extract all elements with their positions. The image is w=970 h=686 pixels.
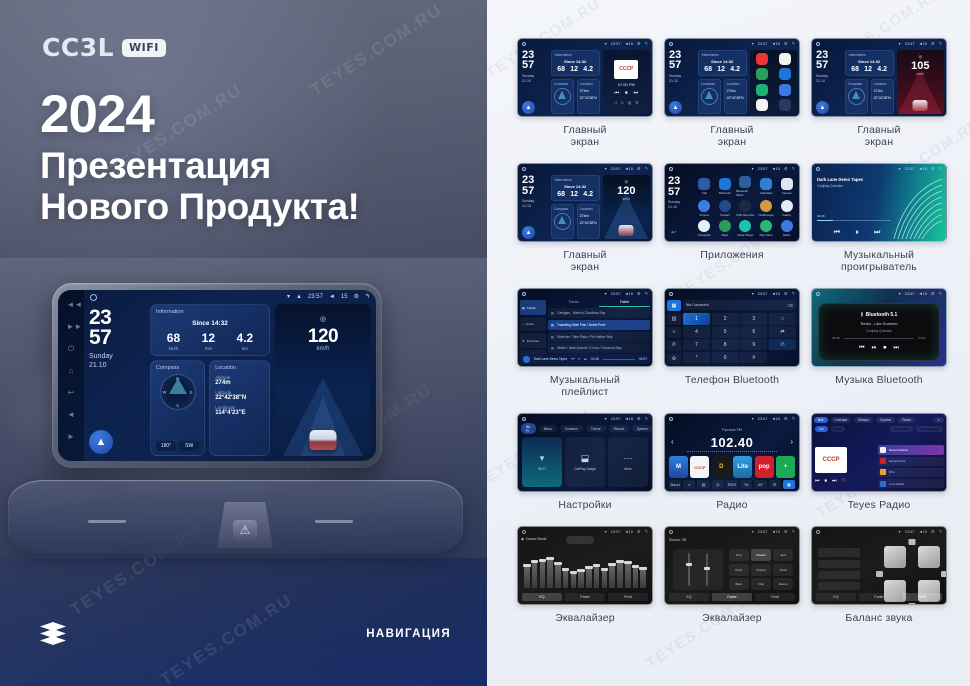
teyes-station-list[interactable]: Record Dance Europa Plus Dfm Love Radio: [878, 445, 944, 488]
eq-knob[interactable]: [585, 566, 593, 569]
station-preset[interactable]: +: [776, 456, 795, 478]
settings-tabs[interactable]: Wi-Fi Menu Common Theme Record System: [521, 424, 649, 433]
list-item[interactable]: Love Radio: [878, 479, 944, 489]
band-icon[interactable]: Band: [669, 480, 681, 489]
presets-icon[interactable]: ▦: [783, 480, 795, 489]
tab-field[interactable]: Field: [902, 593, 942, 601]
key-7[interactable]: 7: [683, 339, 710, 350]
power-icon[interactable]: ⏻: [67, 344, 76, 353]
teyes-tabs[interactable]: Все Станции Жанры Страны Поиск ✕: [814, 415, 944, 424]
eq-knob[interactable]: [562, 568, 570, 571]
next-icon[interactable]: ⏭: [584, 357, 587, 361]
track-icon: ▤: [551, 323, 554, 327]
call-icon[interactable]: ✆: [769, 339, 796, 350]
app-item[interactable]: DVR Recorder: [736, 199, 755, 218]
key-5[interactable]: 5: [712, 326, 739, 337]
eq-knob[interactable]: [624, 561, 632, 564]
tab-all[interactable]: Все: [814, 417, 828, 423]
playlist-player-bar[interactable]: Dark Lane Demo Tapes ⏮⏸⏭ 01:08 04:07: [520, 354, 650, 364]
speed-widget[interactable]: ◎ 105 km/h: [897, 50, 944, 114]
eq-knob[interactable]: [616, 560, 624, 563]
kinopoisk-icon[interactable]: [698, 220, 710, 232]
speaker-front-right[interactable]: [918, 546, 940, 568]
shuffle-icon[interactable]: ⤮: [614, 101, 617, 105]
tab-countries[interactable]: Страны: [876, 417, 895, 423]
speed-widget[interactable]: ◎ 120 km/h: [275, 304, 371, 456]
grid-cell[interactable]: ▾23:57 ◄15⚙↰ 23 57 Sunday 21.10 ▲: [517, 38, 653, 158]
prev-icon[interactable]: ⏮: [571, 357, 574, 361]
music-player-icon[interactable]: [739, 220, 751, 232]
speed-unit: km/h: [897, 72, 944, 76]
grid-cell[interactable]: ▾23:57 ◄15⚙↰ Русское FM 102.40 ‹ › M CCC…: [664, 413, 800, 521]
eq-band[interactable]: [532, 560, 538, 588]
effect-custom[interactable]: Custom: [751, 564, 771, 576]
navigation-arrow-icon[interactable]: ▲: [522, 226, 535, 239]
tab-eq[interactable]: EQ: [816, 593, 856, 601]
eq-knob[interactable]: [593, 564, 601, 567]
list-item[interactable]: Europa Plus: [878, 457, 944, 467]
eq-band[interactable]: [625, 561, 631, 588]
call-icon[interactable]: [698, 178, 710, 190]
eq-knob[interactable]: [523, 564, 531, 567]
time-text: 23:57: [758, 41, 768, 46]
tab-fader[interactable]: Fader: [712, 593, 752, 601]
prev-station-icon[interactable]: ‹: [671, 437, 674, 446]
stop-icon[interactable]: ⏹: [625, 90, 628, 96]
next-icon[interactable]: ⏭: [634, 90, 639, 96]
tab-tracks[interactable]: Tracks: [548, 300, 599, 307]
app-item[interactable]: Gallery: [777, 199, 796, 218]
next-icon[interactable]: ⏭: [832, 478, 837, 484]
effect-classic[interactable]: Classic: [751, 549, 771, 561]
back-icon[interactable]: ↰: [365, 293, 370, 300]
thumbnail-settings[interactable]: ▾23:57 ◄15⚙↰ Wi-Fi Menu Common Theme Rec…: [517, 413, 653, 492]
tab-stations[interactable]: Станции: [831, 417, 852, 423]
next-station-icon[interactable]: ›: [790, 437, 793, 446]
media-controls[interactable]: ⏮⏸⏭: [826, 229, 888, 237]
grid-cell[interactable]: ▾23:57 ◄15⚙↰: [811, 526, 947, 634]
eq-band[interactable]: [640, 567, 646, 589]
card-wifi[interactable]: ▾Wi-Fi: [522, 437, 562, 487]
grid-cell[interactable]: Все Станции Жанры Страны Поиск ✕ Топ Тре…: [811, 413, 947, 521]
compass-card[interactable]: Compass: [551, 204, 574, 239]
slider-knob[interactable]: [704, 567, 710, 570]
play-store-icon[interactable]: [756, 99, 768, 111]
teyes-now-playing: CCCP ⏮⏹⏭♡: [815, 447, 857, 484]
clock-hours: 23: [522, 175, 548, 185]
navigation-arrow-icon[interactable]: ▲: [522, 101, 535, 114]
compass-card[interactable]: Compass: [551, 79, 574, 114]
star-icon[interactable]: ☆: [769, 313, 796, 324]
browser-icon[interactable]: [779, 53, 791, 65]
eq-band[interactable]: [617, 560, 623, 589]
station-preset[interactable]: pop: [755, 456, 774, 478]
chrome-icon[interactable]: [698, 200, 710, 212]
equalizer-preset[interactable]: ◉Dance Mode: [521, 537, 547, 541]
key-hash[interactable]: #: [740, 352, 767, 363]
thumbnail-balance[interactable]: ▾23:57 ◄15⚙↰: [811, 526, 947, 605]
station-preset[interactable]: M: [669, 456, 688, 478]
information-card[interactable]: Information Since 14:32 68 12 4.2: [551, 50, 600, 76]
music-icon[interactable]: [756, 84, 768, 96]
balance-right-button[interactable]: [941, 571, 947, 577]
eq-knob[interactable]: [531, 560, 539, 563]
app-item[interactable]: Camera: [777, 176, 796, 197]
grid-cell[interactable]: ▾23:57 ◄15⚙↰ Dark Lane Demo Tapes Coldpl…: [811, 163, 947, 283]
app-item[interactable]: FileManager: [757, 199, 776, 218]
app-item[interactable]: Music Player: [736, 220, 755, 239]
equalizer-bands[interactable]: [524, 548, 646, 588]
pause-icon[interactable]: ⏸: [855, 229, 859, 237]
media-widget[interactable]: CCCP 07:50 PM ⏮⏹⏭ ⤮↻▥☰: [603, 50, 650, 114]
eq-band[interactable]: [609, 563, 615, 589]
back-icon: ↰: [792, 529, 795, 534]
key-3[interactable]: 3: [740, 313, 767, 324]
thumbnail-bt-phone[interactable]: ▾23:57 ◄15⚙↰ ▦ ▥ ⌕ ✆ ⚙ Not Connected: [664, 288, 800, 367]
effect-bass[interactable]: Bass: [729, 578, 749, 590]
volume-up-icon[interactable]: ►: [67, 432, 76, 441]
app-item[interactable]: Chrome: [695, 199, 714, 218]
ta-icon[interactable]: TA: [740, 480, 752, 489]
play-pause-icon[interactable]: ⏯: [872, 345, 877, 352]
hazard-warning-icon[interactable]: ⚠: [233, 520, 257, 541]
eq-knob[interactable]: [554, 562, 562, 565]
grid-cell[interactable]: ▾23:57 ◄15⚙↰ ▦ ▥ ⌕ ✆ ⚙ Not Connected: [664, 288, 800, 408]
compass-card[interactable]: Compass: [698, 79, 721, 114]
effect-vocal[interactable]: Vocal: [773, 564, 793, 576]
sidebar-item-tracks[interactable]: ▤Tracks: [520, 300, 546, 315]
station-preset[interactable]: D: [712, 456, 731, 478]
next-icon[interactable]: ⏭: [893, 345, 898, 352]
eq-band[interactable]: [578, 569, 584, 588]
bluetooth-music-icon[interactable]: [739, 176, 751, 188]
latitude-value: 22°42'38"N: [727, 96, 744, 100]
effect-rock[interactable]: Rock: [729, 564, 749, 576]
eq-knob[interactable]: [539, 559, 547, 562]
location-card[interactable]: Location 274m 22°42'38"N: [871, 79, 894, 114]
back-icon: ↰: [792, 41, 795, 46]
progress-bar[interactable]: [603, 359, 635, 360]
effect-flat[interactable]: Flat: [751, 578, 771, 590]
key-8[interactable]: 8: [712, 339, 739, 350]
rds-icon[interactable]: RDS: [726, 480, 738, 489]
eq-band[interactable]: [524, 564, 530, 589]
app-item[interactable]: Bluetooth: [716, 176, 735, 197]
volume-icon: ◄15: [919, 291, 927, 296]
tab-genres[interactable]: Жанры: [854, 417, 873, 423]
list-item[interactable]: ▤Travelling Hotel Plan / Nobel Prize: [548, 320, 650, 330]
eq-knob[interactable]: [608, 563, 616, 566]
thumbnail-bt-music[interactable]: ▾23:57 ◄15⚙↰ ᛒBluetooth 5.1 Tiesto - Lik…: [811, 288, 947, 367]
home-indicator-icon: [522, 42, 526, 46]
settings-icon[interactable]: ⚙: [667, 353, 681, 364]
back-nav-icon[interactable]: ◄◄: [67, 300, 76, 309]
card-carplay[interactable]: ⬓CarPlay Usage: [565, 437, 605, 487]
search-icon[interactable]: ⌕: [667, 327, 681, 338]
eq-icon[interactable]: ▥: [628, 101, 631, 105]
repeat-icon[interactable]: ↻: [621, 101, 624, 105]
slider-knob[interactable]: [686, 563, 692, 566]
preset-stations[interactable]: M CCCP D Lite pop +: [669, 456, 795, 478]
eq-knob[interactable]: [546, 557, 554, 560]
tab-theme[interactable]: Theme: [586, 425, 606, 432]
tab-common[interactable]: Common: [560, 425, 583, 432]
fader-sliders[interactable]: [673, 549, 723, 590]
subtab-saved[interactable]: Сохранённые: [916, 426, 943, 432]
stop-icon[interactable]: ⏹: [825, 478, 828, 484]
file-manager-icon[interactable]: [760, 200, 772, 212]
key-9[interactable]: 9: [740, 339, 767, 350]
contacts-icon[interactable]: ▥: [667, 313, 681, 324]
grid-cell[interactable]: ▾23:57 ◄15⚙↰ ᛒBluetooth 5.1 Tiesto - Lik…: [811, 288, 947, 408]
tab-eq[interactable]: EQ: [669, 593, 709, 601]
settings-gear-icon[interactable]: ⚙: [354, 293, 359, 300]
tab-wifi[interactable]: Wi-Fi: [521, 423, 536, 434]
eq-knob[interactable]: [601, 568, 609, 571]
eq-knob[interactable]: [570, 571, 578, 574]
eq-band[interactable]: [555, 562, 561, 588]
apps-grid-icon[interactable]: [779, 99, 791, 111]
home-icon[interactable]: ⌂: [67, 366, 76, 375]
gallery-icon[interactable]: [781, 200, 793, 212]
pause-icon[interactable]: ⏸: [578, 357, 580, 361]
thumbnail-home-2[interactable]: ▾23:57 ◄15⚙↰ 23 57 Sunday 21.10 ▲: [664, 38, 800, 117]
thumbnail-equalizer-2[interactable]: ▾23:57 ◄15⚙↰ Sound: Off Pop Classic Jazz: [664, 526, 800, 605]
prev-icon[interactable]: ⏮: [859, 345, 864, 352]
dial-keypad[interactable]: 1 2 3 ☆ 4 5 6 ⇄ 7 8 9 ✆ *: [683, 301, 796, 363]
app-item[interactable]: Play Store: [757, 220, 776, 239]
app-item[interactable]: Maps: [716, 220, 735, 239]
list-item[interactable]: Dfm: [878, 468, 944, 478]
volume-down-icon[interactable]: ◄: [67, 410, 76, 419]
tab-field[interactable]: Field: [608, 593, 648, 601]
list-item[interactable]: Record Dance: [878, 445, 944, 455]
back-arrow-icon[interactable]: ↩: [671, 229, 676, 236]
effect-dance[interactable]: Dance: [773, 578, 793, 590]
car-graphic: [619, 225, 634, 236]
screen-side-rail[interactable]: ◄◄ ►► ⏻ ⌂ ↩ ◄ ►: [58, 290, 84, 461]
location-card[interactable]: Location Altitude 274m Latitude 22°42'38…: [209, 360, 270, 456]
prev-icon[interactable]: ⏮: [815, 478, 820, 484]
list-item[interactable]: ▤Wilder / Back Around / 4 Cuts / Fabulou…: [548, 343, 650, 353]
stop-icon[interactable]: ⏹: [883, 345, 886, 352]
settings-icon[interactable]: ⚙: [769, 480, 781, 489]
camera-icon[interactable]: [781, 178, 793, 190]
speaker-front-left[interactable]: [884, 546, 906, 568]
list-icon[interactable]: ☰: [635, 101, 638, 105]
eq-knob[interactable]: [639, 567, 647, 570]
information-card[interactable]: Information Since 14:32 68 12 4.2: [698, 50, 747, 76]
contact-icon[interactable]: [719, 200, 731, 212]
af-icon[interactable]: AF: [754, 480, 766, 489]
progress-bar[interactable]: [844, 338, 915, 339]
location-card[interactable]: Location 274m 22°42'38"N: [724, 79, 747, 114]
location-card[interactable]: Location 274m 22°42'38"N: [577, 79, 600, 114]
info-cards: Information Since 14:32 68 12 4.2: [698, 50, 747, 114]
skip-icon[interactable]: ►►: [67, 322, 76, 331]
grid-cell[interactable]: ▾23:57 ◄15⚙↰ Sound: Off Pop Classic Jazz: [664, 526, 800, 634]
dvr-recorder-icon[interactable]: [739, 200, 751, 212]
tab-record[interactable]: Record: [609, 425, 629, 432]
calculator-icon[interactable]: [760, 178, 772, 190]
compass-card[interactable]: Compass N S E W: [150, 360, 205, 456]
sidebar-item-artists[interactable]: ♪Artists: [520, 317, 546, 332]
eq-knob[interactable]: [632, 565, 640, 568]
maps-icon[interactable]: [719, 220, 731, 232]
media-controls[interactable]: ⏮⏹⏭: [615, 90, 639, 96]
navigation-arrow-icon[interactable]: ▲: [669, 101, 682, 114]
preset-selector[interactable]: [566, 536, 594, 544]
list-item[interactable]: ▤Sketcher / Take Risks / Pre Nation Risk: [548, 332, 650, 342]
grid-cell[interactable]: ▾23:57 ◄15⚙↰ 23 57 Sunday 21.10 ▲: [811, 38, 947, 158]
information-card[interactable]: Information Since 14:32 68 12 4.2: [845, 50, 894, 76]
app-item[interactable]: Radio: [777, 220, 796, 239]
app-item[interactable]: Kinopoisk: [695, 220, 714, 239]
radio-icon[interactable]: [781, 220, 793, 232]
subtab-favorites[interactable]: Избранное: [890, 426, 913, 432]
tab-search[interactable]: Поиск: [898, 417, 915, 423]
teyes-subtabs[interactable]: Топ Трек Избранное Сохранённые: [815, 425, 943, 432]
effect-pop[interactable]: Pop: [729, 549, 749, 561]
thumbnail-music-player[interactable]: ▾23:57 ◄15⚙↰ Dark Lane Demo Tapes Coldpl…: [811, 163, 947, 242]
call-history-icon[interactable]: ✆: [667, 340, 681, 351]
station-preset[interactable]: CCCP: [690, 456, 709, 478]
return-icon[interactable]: ↩: [67, 388, 76, 397]
key-0[interactable]: 0: [712, 352, 739, 363]
teyes-controls[interactable]: ⏮⏹⏭♡: [815, 478, 857, 484]
tab-field[interactable]: Field: [755, 593, 795, 601]
list-item[interactable]: ▤Cardigan - Martin's Cloudless Day: [548, 308, 650, 318]
grid-cell[interactable]: ▾23:57 ◄15⚙↰ 23 57 Sunday 21.10 ▲: [517, 163, 653, 283]
eq-bottom-bar[interactable]: EQ Fader Field: [669, 593, 795, 601]
eq-bottom-bar[interactable]: EQ Fader Field: [522, 593, 648, 601]
key-1[interactable]: 1: [683, 313, 710, 324]
bluetooth-icon[interactable]: [719, 178, 731, 190]
tab-menu[interactable]: Menu: [539, 425, 557, 432]
card-label: More: [624, 467, 631, 471]
location-card[interactable]: Location 274m 22°42'38"N: [577, 204, 600, 239]
subtab-top[interactable]: Топ: [815, 426, 828, 432]
sound-effect-buttons[interactable]: Pop Classic Jazz Rock Custom Vocal Bass …: [729, 549, 793, 590]
gear-icon: ⚙: [637, 416, 641, 421]
thumbnail-teyes-radio[interactable]: Все Станции Жанры Страны Поиск ✕ Топ Тре…: [811, 413, 947, 492]
sidebar-item-favorites[interactable]: ★Favorites: [520, 333, 546, 348]
tab-system[interactable]: System: [632, 425, 653, 432]
balance-down-button[interactable]: [909, 603, 916, 605]
track-title: Travelling Hotel Plan / Nobel Prize: [557, 323, 605, 327]
phone-sidebar[interactable]: ▦ ▥ ⌕ ✆ ⚙: [667, 300, 681, 364]
youtube-icon[interactable]: [756, 53, 768, 65]
fader-slider[interactable]: [706, 553, 708, 586]
list-icon[interactable]: ▤: [697, 480, 709, 489]
eq-bottom-bar[interactable]: EQ Fader Field: [816, 593, 942, 601]
tab-folder[interactable]: Folder: [599, 300, 650, 307]
eq-band[interactable]: [586, 566, 592, 588]
key-6[interactable]: 6: [740, 326, 767, 337]
station-preset[interactable]: Lite: [733, 456, 752, 478]
tab-fader[interactable]: Fader: [859, 593, 899, 601]
card-more[interactable]: ⋯More: [608, 437, 648, 487]
grid-cell[interactable]: ▾23:57 ◄15⚙↰ 23 57 Sunday 21.10 ▲: [664, 38, 800, 158]
prev-icon[interactable]: ⏮: [615, 90, 620, 96]
loc-icon[interactable]: ◎: [712, 480, 724, 489]
thumbnail-equalizer-1[interactable]: ▾23:57 ◄15⚙↰ ◉Dance Mode: [517, 526, 653, 605]
thumbnail-home-4[interactable]: ▾23:57 ◄15⚙↰ 23 57 Sunday 21.10 ▲: [517, 163, 653, 242]
thumbnail-home-1[interactable]: ▾23:57 ◄15⚙↰ 23 57 Sunday 21.10 ▲: [517, 38, 653, 117]
balance-left-button[interactable]: [876, 571, 883, 577]
station-logo: [880, 469, 886, 475]
eq-band[interactable]: [602, 568, 608, 588]
grid-cell[interactable]: ▾23:57 ◄15⚙↰ Wi-Fi Menu Common Theme Rec…: [517, 413, 653, 521]
eq-band[interactable]: [540, 559, 546, 589]
tab-eq[interactable]: EQ: [522, 593, 562, 601]
navigation-arrow-icon[interactable]: ▲: [89, 430, 113, 454]
key-4[interactable]: 4: [683, 326, 710, 337]
speed-widget[interactable]: ◎ 120 km/h: [603, 175, 650, 239]
navigation-app-icon[interactable]: [779, 68, 791, 80]
eq-band[interactable]: [563, 568, 569, 589]
information-card[interactable]: Information Since 14:32 68 12 4.2: [551, 175, 600, 201]
subtab-track[interactable]: Трек: [831, 426, 845, 432]
play-store-icon[interactable]: [760, 220, 772, 232]
app-item[interactable]: Contact: [716, 199, 735, 218]
eq-knob[interactable]: [577, 569, 585, 572]
playlist-tabs[interactable]: Tracks Folder: [548, 300, 650, 307]
balance-up-button[interactable]: [909, 539, 916, 545]
grid-cell[interactable]: ▾23:57 ◄15⚙↰ ▤Tracks ♪Artists ★Favorites…: [517, 288, 653, 408]
search-icon[interactable]: ⌕: [683, 480, 695, 489]
progress-bar[interactable]: [817, 220, 891, 221]
thumbnail-home-3[interactable]: ▾23:57 ◄15⚙↰ 23 57 Sunday 21.10 ▲: [811, 38, 947, 117]
eq-band[interactable]: [547, 557, 553, 588]
favorite-icon[interactable]: ♡: [842, 478, 846, 484]
grid-cell[interactable]: ▾23:57 ◄15⚙↰ ◉Dance Mode: [517, 526, 653, 634]
maps-icon[interactable]: [756, 68, 768, 80]
compass-card[interactable]: Compass: [845, 79, 868, 114]
home-indicator-icon[interactable]: [90, 294, 97, 301]
grid-cell[interactable]: ▾23:57 ◄15⚙↰ 23 57 Sunday 21.10 ↩ Call B…: [664, 163, 800, 283]
bt-controls[interactable]: ⏮⏯⏹⏭: [859, 345, 899, 352]
tab-fader[interactable]: Fader: [565, 593, 605, 601]
dialpad-icon[interactable]: ▦: [667, 300, 681, 311]
thumbnail-playlist[interactable]: ▾23:57 ◄15⚙↰ ▤Tracks ♪Artists ★Favorites…: [517, 288, 653, 367]
navigation-arrow-icon[interactable]: ▲: [816, 101, 829, 114]
media-extra-controls[interactable]: ⤮↻▥☰: [614, 101, 639, 105]
key-star[interactable]: *: [683, 352, 710, 363]
app-item[interactable]: Calculator: [757, 176, 776, 197]
since-label: Since 14:32: [555, 184, 596, 189]
app-item[interactable]: Bluetooth Music: [736, 176, 755, 197]
key-2[interactable]: 2: [712, 313, 739, 324]
radio-toolbar[interactable]: Band ⌕ ▤ ◎ RDS TA AF ⚙ ▦: [669, 480, 795, 489]
prev-icon[interactable]: ⏮: [834, 229, 840, 237]
thumbnail-apps[interactable]: ▾23:57 ◄15⚙↰ 23 57 Sunday 21.10 ↩ Call B…: [664, 163, 800, 242]
effect-jazz[interactable]: Jazz: [773, 549, 793, 561]
eq-band[interactable]: [571, 571, 577, 589]
information-title: Information: [555, 53, 596, 57]
close-icon[interactable]: ✕: [933, 417, 944, 423]
information-card[interactable]: Information Since 14:32 68 km/h 12: [150, 304, 270, 356]
app-item[interactable]: Call: [695, 176, 714, 197]
transfer-icon[interactable]: ⇄: [769, 326, 796, 337]
app-shortcuts-widget[interactable]: [750, 50, 797, 114]
thumbnail-radio[interactable]: ▾23:57 ◄15⚙↰ Русское FM 102.40 ‹ › M CCC…: [664, 413, 800, 492]
mail-icon[interactable]: [779, 84, 791, 96]
fader-slider[interactable]: [688, 553, 690, 586]
eq-band[interactable]: [594, 564, 600, 588]
next-icon[interactable]: ⏭: [874, 229, 880, 237]
eq-band[interactable]: [633, 565, 639, 588]
